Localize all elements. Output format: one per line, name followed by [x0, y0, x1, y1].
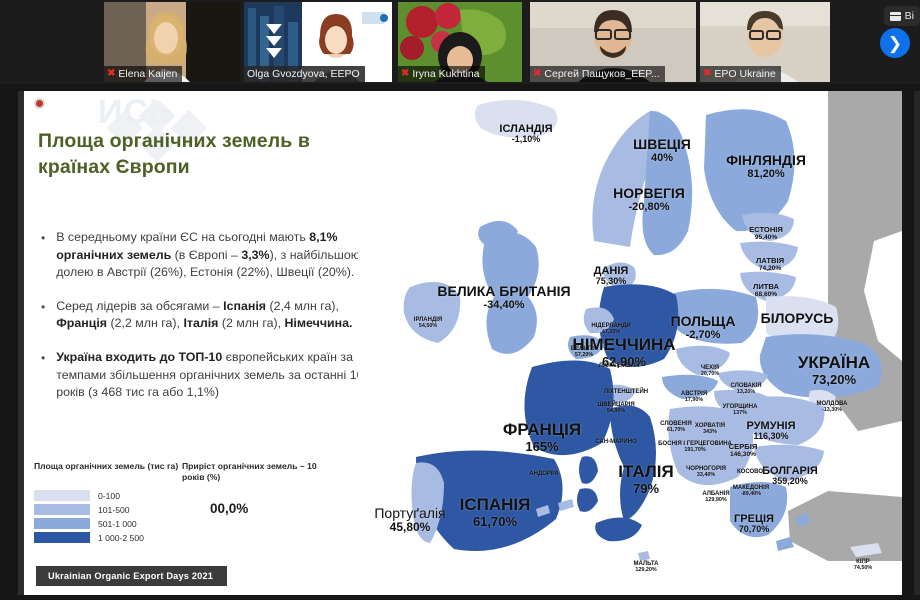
- country-value: -2,70%: [671, 329, 736, 341]
- bullet-text: Серед лідерів за обсягами – Іспанія (2,4…: [56, 298, 371, 333]
- country-value: -89,40%: [733, 492, 769, 498]
- country-name: ФРАНЦІЯ: [503, 421, 581, 440]
- country-value: 129,90%: [702, 498, 729, 504]
- watermark-text: ИСЬ: [98, 93, 174, 132]
- map-country-label: МАКЕДОНІЯ-89,40%: [733, 485, 769, 498]
- country-value: 191,70%: [658, 448, 732, 454]
- map-country-label: Портуґалія45,80%: [374, 506, 445, 535]
- map-country-label: УКРАЇНА73,20%: [798, 354, 870, 387]
- map-country-label: БОЛГАРІЯ359,20%: [762, 465, 818, 487]
- map-country-label: ІСПАНІЯ61,70%: [460, 496, 531, 529]
- participant-tile-1[interactable]: Olga Gvozdyova, EEPO: [244, 2, 392, 82]
- participant-name: Сергей Пащуков_EEP...: [544, 68, 659, 80]
- country-value: 40%: [633, 152, 691, 164]
- map-country-label: СЕРБІЯ146,30%: [729, 443, 758, 459]
- map-country-label: ФРАНЦІЯ165%: [503, 421, 581, 454]
- participant-name-chip: Olga Gvozdyova, EEPO: [244, 66, 365, 82]
- map-country-label: ХОРВАТІЯ343%: [695, 423, 725, 436]
- bullet-list: •В середньому країни ЄС на сьогодні мают…: [36, 229, 371, 418]
- view-mode-button[interactable]: Bi: [884, 6, 920, 26]
- country-value: 146,30%: [729, 451, 758, 458]
- map-country-label: ФІНЛЯНДІЯ81,20%: [726, 153, 806, 180]
- country-value: -34,40%: [437, 299, 570, 311]
- map-country-label: РУМУНІЯ116,30%: [747, 420, 796, 442]
- country-value: 137%: [723, 411, 758, 417]
- bullet-item: •Україна входить до ТОП-10 європейських …: [36, 349, 371, 402]
- legend-swatch: [34, 532, 90, 543]
- country-name: ПОЛЬЩА: [671, 314, 736, 329]
- map-country-label: ІТАЛІЯ79%: [618, 463, 673, 496]
- map-country-label: ЛИТВА68,60%: [753, 283, 779, 299]
- country-value: 343%: [695, 430, 725, 436]
- map-country-label: БІЛОРУСЬ: [761, 311, 834, 326]
- zoom-meeting-window: ✖ Elena Kaijen: [0, 0, 920, 600]
- legend-bin-label: 501-1 000: [98, 519, 137, 529]
- map-country-label: КІПР74,50%: [854, 559, 872, 572]
- map-country-label: ДАНІЯ75,30%: [594, 265, 629, 287]
- chevron-right-icon: ❯: [888, 35, 902, 52]
- map-country-label: ІРЛАНДІЯ54,50%: [414, 317, 442, 330]
- muted-mic-icon: ✖: [401, 69, 409, 79]
- legend-bin-label: 1 000-2 500: [98, 533, 144, 543]
- country-value: 81,20%: [726, 168, 806, 180]
- slide-footer: Ukrainian Organic Export Days 2021: [36, 566, 227, 586]
- legend-bin-row: 1 000-2 500: [34, 532, 334, 544]
- muted-mic-icon: ✖: [703, 69, 711, 79]
- country-name: КОСОВО: [737, 469, 763, 476]
- map-country-label: АЛБАНІЯ129,90%: [702, 491, 729, 504]
- page-title: Площа органічних земель в країнах Європи: [38, 128, 358, 180]
- country-value: 165%: [503, 440, 581, 454]
- country-value: 129,20%: [634, 568, 659, 574]
- legend-swatch: [34, 504, 90, 515]
- map-country-label: ЧЕХІЯ20,70%: [701, 365, 719, 378]
- country-value: 74,20%: [756, 265, 784, 272]
- view-mode-label: Bi: [905, 10, 914, 22]
- bullet-dot: •: [36, 229, 45, 282]
- country-value: 54,50%: [414, 324, 442, 330]
- country-value: 70,70%: [734, 525, 774, 535]
- slide-left-edge: [18, 91, 24, 595]
- country-value: 33,40%: [686, 473, 726, 479]
- map-country-label: АВСТРІЯ17,90%: [681, 391, 707, 404]
- participant-name-chip: ✖ Iryna Kukhtina: [398, 66, 485, 82]
- map-country-label: НІМЕЧЧИНА62,90%: [572, 336, 675, 369]
- legend-growth-title: Приріст органічних земель – 10 років (%): [182, 461, 322, 483]
- legend-bin-row: 101-500: [34, 504, 334, 516]
- map-country-label: СЛОВАКІЯ13,20%: [730, 383, 761, 396]
- participant-tile-2[interactable]: ✖ Iryna Kukhtina: [398, 2, 522, 82]
- next-participants-page-button[interactable]: ❯: [880, 28, 910, 58]
- country-name: НІМЕЧЧИНА: [572, 336, 675, 355]
- country-name: ШВЕЦІЯ: [633, 137, 691, 152]
- map-country-label: ПОЛЬЩА-2,70%: [671, 314, 736, 341]
- participant-name-chip: ✖ Сергей Пащуков_EEP...: [530, 66, 665, 82]
- country-name: БІЛОРУСЬ: [761, 311, 834, 326]
- legend-bin-label: 0-100: [98, 491, 120, 501]
- map-country-label: ШВЕЦІЯ40%: [633, 137, 691, 164]
- participant-tile-3[interactable]: ✖ Сергей Пащуков_EEP...: [530, 2, 696, 82]
- country-name: САН-МАРИНО: [595, 439, 637, 446]
- map-country-label: ГРЕЦІЯ70,70%: [734, 513, 774, 535]
- country-value: 73,20%: [798, 373, 870, 387]
- country-value: 68,60%: [753, 291, 779, 298]
- legend-area-title: Площа органічних земель (тис га): [34, 461, 182, 483]
- country-value: 54,90%: [597, 409, 634, 415]
- country-value: 116,30%: [747, 432, 796, 442]
- map-country-label: ЛАТВІЯ74,20%: [756, 257, 784, 273]
- map-country-label: ЧОРНОГОРІЯ33,40%: [686, 466, 726, 479]
- legend-bin-label: 101-500: [98, 505, 130, 515]
- country-value: 61,70%: [460, 515, 531, 529]
- map-country-label: УГОРЩИНА137%: [723, 404, 758, 417]
- country-value: 74,50%: [854, 566, 872, 572]
- participant-name: Elena Kaijen: [118, 68, 177, 80]
- map-country-label: МАЛЬТА129,20%: [634, 561, 659, 574]
- map-legend: Площа органічних земель (тис га) Приріст…: [34, 461, 334, 546]
- map-country-label: САН-МАРИНО: [595, 439, 637, 446]
- country-name: УКРАЇНА: [798, 354, 870, 373]
- gallery-view-icon: [890, 12, 901, 21]
- participant-name-chip: ✖ EPO Ukraine: [700, 66, 781, 82]
- country-value: 75,30%: [594, 277, 629, 287]
- country-name: ІТАЛІЯ: [618, 463, 673, 482]
- country-value: 62,90%: [572, 355, 675, 369]
- bullet-text: В середньому країни ЄС на сьогодні мають…: [56, 229, 371, 282]
- participant-name: Iryna Kukhtina: [412, 68, 479, 80]
- map-country-label: МОЛДОВА-13,30%: [816, 401, 847, 414]
- country-name: ВЕЛИКА БРИТАНІЯ: [437, 284, 570, 299]
- map-country-label: НІДЕРЛАНДИ47,20%: [591, 323, 630, 336]
- country-name: ЛІХТЕНШТЕЙН: [604, 389, 648, 396]
- country-name: ІСПАНІЯ: [460, 496, 531, 515]
- legend-swatch: [34, 490, 90, 501]
- legend-swatch: [34, 518, 90, 529]
- map-country-label: НОРВЕГІЯ-20,80%: [613, 186, 685, 213]
- recording-indicator: [34, 98, 45, 109]
- country-value: 17,90%: [681, 398, 707, 404]
- participant-name: Olga Gvozdyova, EEPO: [247, 68, 360, 80]
- country-value: 20,70%: [701, 372, 719, 378]
- legend-growth-sample: 00,0%: [210, 501, 248, 516]
- map-country-label: КОСОВО: [737, 469, 763, 476]
- map-country-label: АНДОРРА: [529, 471, 558, 478]
- participant-tile-0[interactable]: ✖ Elena Kaijen: [104, 2, 240, 82]
- country-name: АНДОРРА: [529, 471, 558, 478]
- bullet-dot: •: [36, 349, 45, 402]
- country-value: 359,20%: [762, 477, 818, 487]
- map-country-label: ВЕЛИКА БРИТАНІЯ-34,40%: [437, 284, 570, 311]
- shared-screen-slide: ИСЬ Площа органічних земель в країнах Єв…: [18, 91, 902, 595]
- map-country-label: ЕСТОНІЯ95,40%: [749, 226, 783, 242]
- legend-bin-row: 0-100: [34, 490, 334, 502]
- country-value: 13,20%: [730, 390, 761, 396]
- country-value: 95,40%: [749, 234, 783, 241]
- map-country-label: СЛОВЕНІЯ61,70%: [660, 421, 692, 434]
- map-country-label: ШВЕЙЦАРІЯ54,90%: [597, 402, 634, 415]
- muted-mic-icon: ✖: [533, 69, 541, 79]
- country-value: -13,30%: [816, 408, 847, 414]
- participant-tile-4[interactable]: ✖ EPO Ukraine: [700, 2, 830, 82]
- bullet-dot: •: [36, 298, 45, 333]
- bullet-item: •Серед лідерів за обсягами – Іспанія (2,…: [36, 298, 371, 333]
- map-country-label: ЛІХТЕНШТЕЙН: [604, 389, 648, 396]
- slide-scrollbar[interactable]: [914, 91, 920, 595]
- country-value: 79%: [618, 482, 673, 496]
- map-country-label: ІСЛАНДІЯ-1,10%: [499, 123, 552, 145]
- muted-mic-icon: ✖: [107, 69, 115, 79]
- legend-bins: 0-100101-500501-1 0001 000-2 500: [34, 490, 334, 544]
- participant-name-chip: ✖ Elena Kaijen: [104, 66, 182, 82]
- country-value: 61,70%: [660, 428, 692, 434]
- participant-name: EPO Ukraine: [714, 68, 775, 80]
- country-value: -1,10%: [499, 135, 552, 145]
- country-name: НОРВЕГІЯ: [613, 186, 685, 201]
- map-country-label: БОСНІЯ І ГЕРЦЕГОВИНА191,70%: [658, 441, 732, 454]
- bullet-item: •В середньому країни ЄС на сьогодні мают…: [36, 229, 371, 282]
- participant-filmstrip: ✖ Elena Kaijen: [0, 0, 920, 84]
- legend-bin-row: 501-1 000: [34, 518, 334, 530]
- country-name: ФІНЛЯНДІЯ: [726, 153, 806, 168]
- bullet-text: Україна входить до ТОП-10 європейських к…: [56, 349, 371, 402]
- country-value: 45,80%: [374, 521, 445, 534]
- country-value: -20,80%: [613, 201, 685, 213]
- europe-choropleth-map: ІСЛАНДІЯ-1,10%НОРВЕГІЯ-20,80%ШВЕЦІЯ40%ФІ…: [358, 91, 902, 595]
